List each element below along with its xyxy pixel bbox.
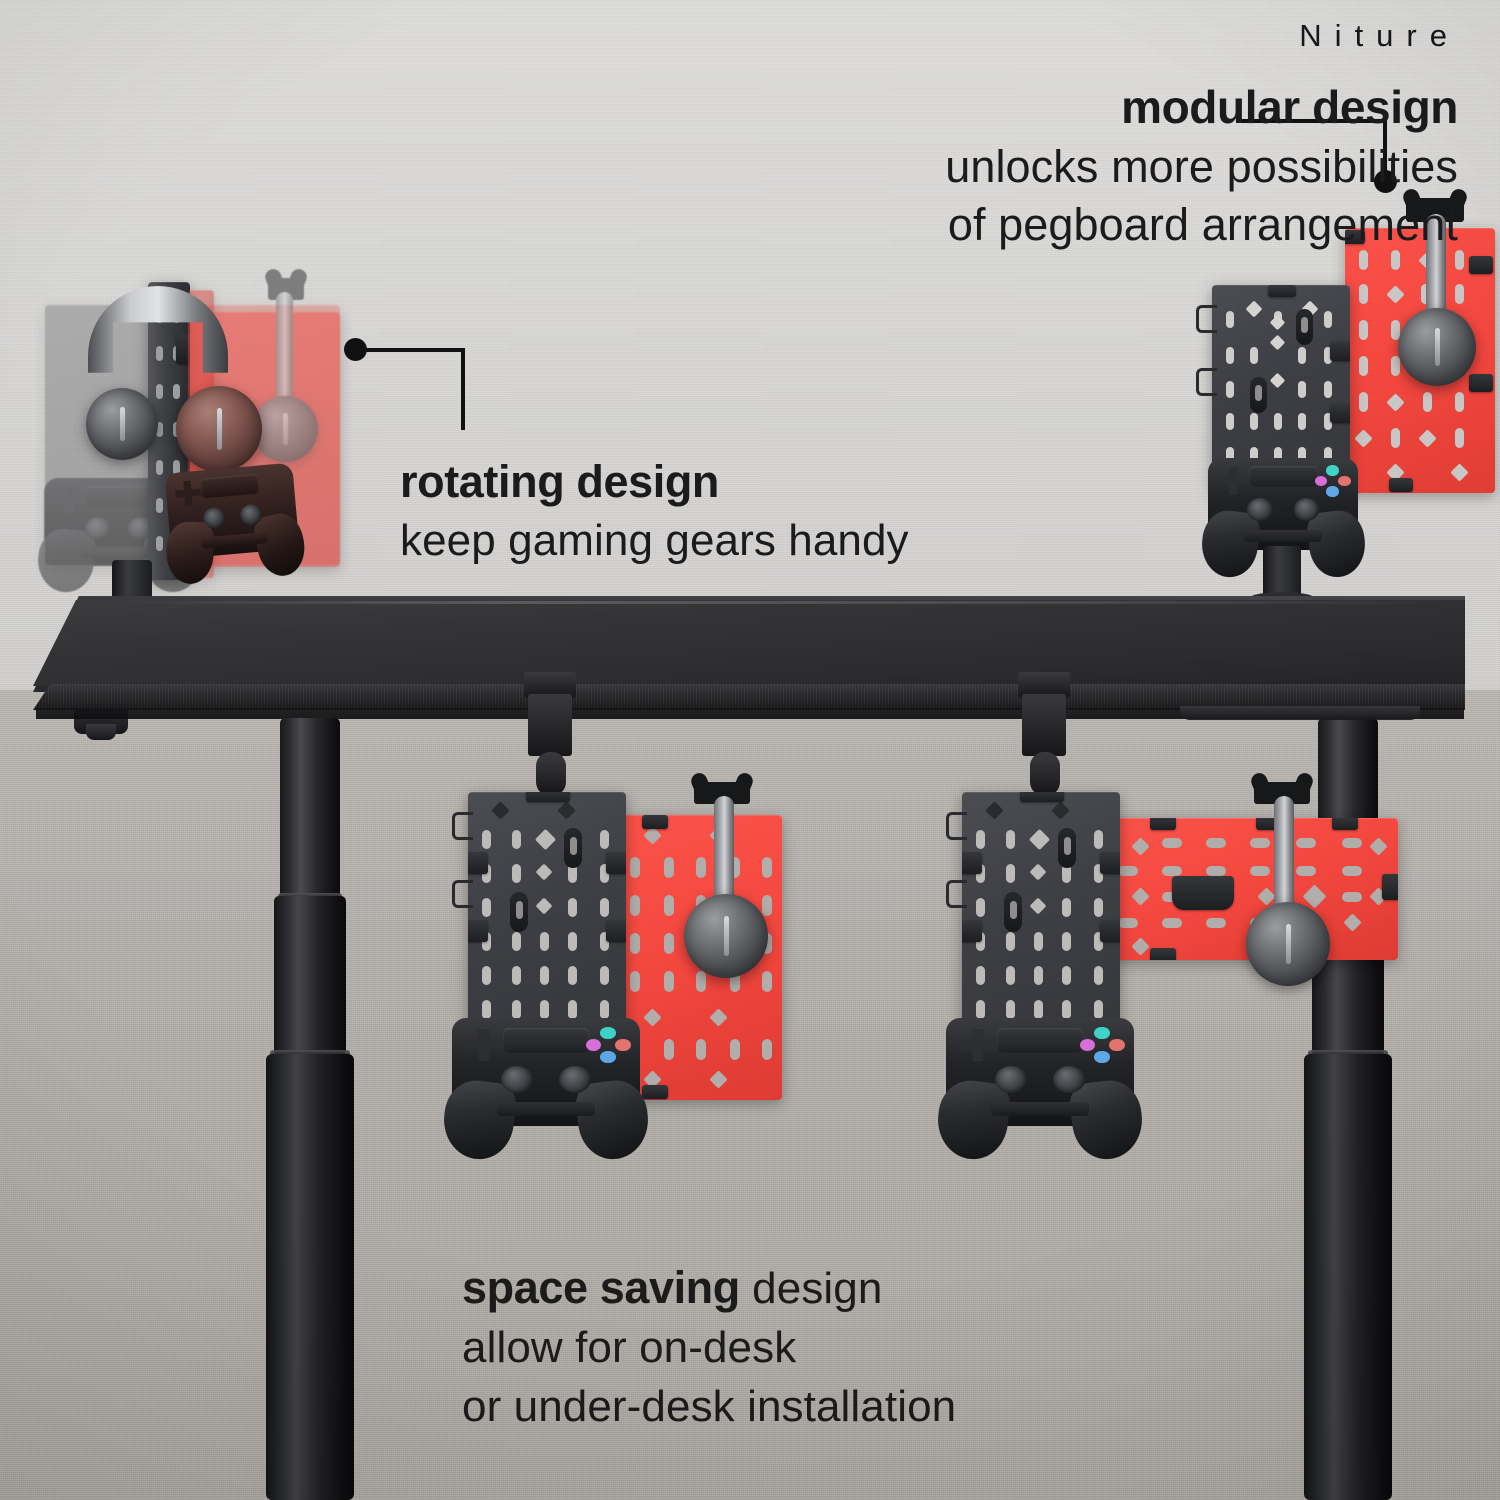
pegboard-holes bbox=[962, 792, 1120, 1054]
pegboard-keyhole bbox=[1058, 828, 1076, 868]
product-feature-image: Niture modular design unlocks more possi… bbox=[0, 0, 1500, 1500]
pegboard-clip bbox=[1330, 341, 1350, 361]
controller-face-buttons bbox=[1315, 465, 1351, 496]
pegboard-keyhole bbox=[1296, 309, 1313, 345]
pegboard-clip bbox=[606, 920, 626, 942]
pegboard-keyhole bbox=[510, 892, 528, 932]
pegboard-side-hook bbox=[1196, 305, 1217, 333]
pegboard-keyhole bbox=[1004, 892, 1022, 932]
controller-face-buttons bbox=[1080, 1027, 1125, 1064]
controller-under-right bbox=[946, 1018, 1134, 1126]
under-desk-arm-left bbox=[528, 694, 572, 756]
pegboard-clip bbox=[1382, 874, 1398, 900]
headphone-cup bbox=[684, 894, 768, 978]
pegboard-clip bbox=[1020, 792, 1064, 802]
pegboard-clip bbox=[1268, 285, 1296, 297]
headphone-cup-right bbox=[176, 386, 262, 472]
pegboard-clip bbox=[606, 852, 626, 874]
pegboard-clip bbox=[1469, 374, 1493, 392]
pegboard-side-hook bbox=[946, 880, 967, 908]
under-desk-pivot-left bbox=[536, 752, 566, 796]
callout-modular: modular design unlocks more possibilitie… bbox=[945, 78, 1458, 255]
headphone-cup-left bbox=[86, 388, 158, 460]
pegboard-clip bbox=[1150, 818, 1176, 830]
pegboard-clip bbox=[1389, 478, 1413, 492]
pegboard-side-hook bbox=[1196, 368, 1217, 396]
under-desk-pivot-right bbox=[1030, 752, 1060, 796]
callout-modular-line2: of pegboard arrangement bbox=[945, 196, 1458, 255]
pegboard-dark-under-left bbox=[468, 792, 626, 1054]
pegboard-clip bbox=[1100, 852, 1120, 874]
callout-modular-headline: modular design bbox=[945, 78, 1458, 138]
pegboard-keyhole bbox=[564, 828, 582, 868]
controller-holder bbox=[1172, 876, 1234, 910]
pegboard-side-hook bbox=[946, 812, 967, 840]
pegboard-side-hook bbox=[452, 880, 473, 908]
callout-rotating-headline: rotating design bbox=[400, 452, 909, 512]
pegboard-clip bbox=[1150, 948, 1176, 960]
pegboard-clip bbox=[642, 815, 668, 829]
under-desk-arm-right bbox=[1022, 694, 1066, 756]
callout-space-saving-headline: space saving design bbox=[462, 1258, 956, 1319]
leader-dot-rotating bbox=[344, 338, 367, 361]
controller-face-buttons bbox=[586, 1027, 631, 1064]
pegboard-clip bbox=[962, 852, 982, 874]
pegboard-keyhole bbox=[1250, 377, 1267, 413]
desk-support-bracket bbox=[1180, 706, 1420, 720]
pegboard-clip bbox=[962, 920, 982, 942]
headphone-cup bbox=[1398, 308, 1476, 386]
callout-rotating: rotating design keep gaming gears handy bbox=[400, 452, 909, 570]
callout-modular-line1: unlocks more possibilities bbox=[945, 138, 1458, 197]
pegboard-clip bbox=[1330, 403, 1350, 423]
desk-clamp-knob-left bbox=[86, 724, 116, 740]
pegboard-dark-under-right bbox=[962, 792, 1120, 1054]
callout-space-saving-headline-bold: space saving bbox=[462, 1262, 740, 1313]
callout-space-saving: space saving design allow for on-desk or… bbox=[462, 1258, 956, 1437]
callout-space-saving-line2: or under-desk installation bbox=[462, 1378, 956, 1437]
pegboard-holes bbox=[468, 792, 626, 1054]
pegboard-clip bbox=[642, 1085, 668, 1099]
pegboard-clip bbox=[526, 792, 570, 802]
callout-rotating-line1: keep gaming gears handy bbox=[400, 512, 909, 571]
controller-under-left bbox=[452, 1018, 640, 1126]
pegboard-side-hook bbox=[452, 812, 473, 840]
brand-logo: Niture bbox=[1299, 18, 1460, 54]
pegboard-clip bbox=[1469, 256, 1493, 274]
pegboard-clip bbox=[468, 920, 488, 942]
pegboard-clip bbox=[468, 852, 488, 874]
pegboard-clip bbox=[1100, 920, 1120, 942]
callout-space-saving-headline-light: design bbox=[740, 1264, 883, 1313]
headphone-cup bbox=[1246, 902, 1330, 986]
controller-desk-right bbox=[1208, 458, 1358, 550]
callout-space-saving-line1: allow for on-desk bbox=[462, 1319, 956, 1378]
controller-desk-left bbox=[164, 463, 299, 560]
pegboard-clip bbox=[1332, 818, 1358, 830]
